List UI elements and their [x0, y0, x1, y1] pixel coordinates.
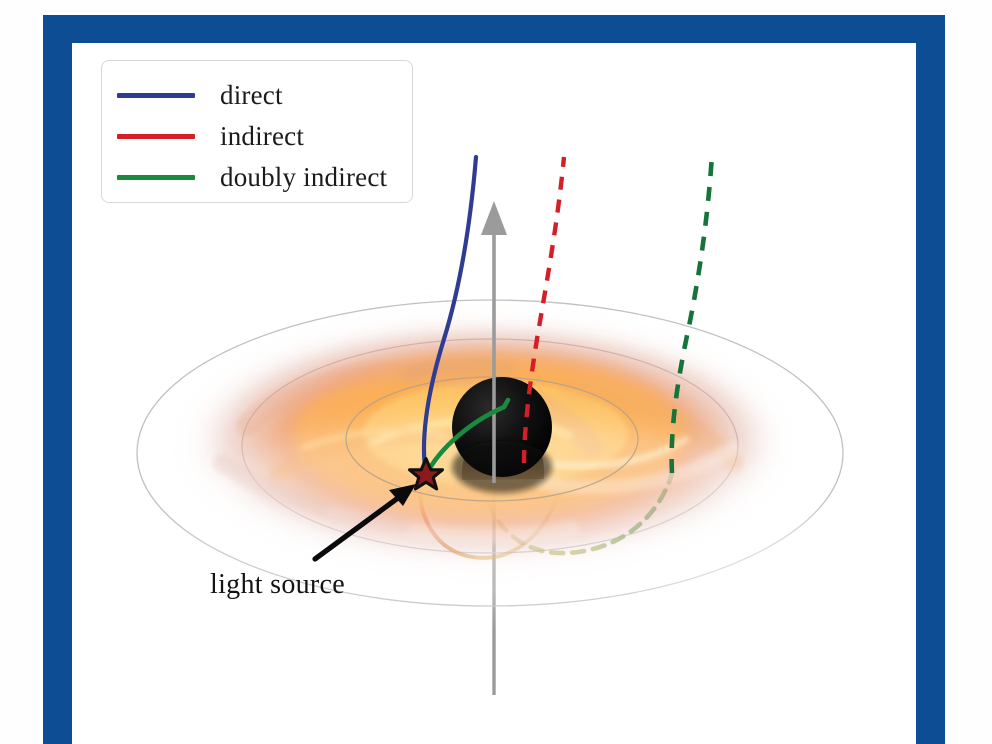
legend-label-indirect: indirect [220, 123, 304, 150]
legend-swatch-doubly-indirect [117, 175, 195, 180]
legend-swatch-indirect [117, 134, 195, 139]
slide-frame-right [916, 15, 945, 744]
slide-frame-left [43, 15, 72, 744]
legend: direct indirect doubly indirect [101, 60, 413, 203]
light-source-label: light source [210, 569, 345, 601]
black-hole [452, 377, 552, 493]
slide-frame-top [43, 15, 945, 43]
legend-item-indirect[interactable]: indirect [102, 116, 412, 157]
legend-item-doubly-indirect[interactable]: doubly indirect [102, 157, 412, 198]
figure-stage: direct indirect doubly indirect light so… [0, 0, 992, 744]
legend-label-doubly-indirect: doubly indirect [220, 164, 387, 191]
legend-item-direct[interactable]: direct [102, 75, 412, 116]
legend-label-direct: direct [220, 82, 283, 109]
legend-swatch-direct [117, 93, 195, 98]
